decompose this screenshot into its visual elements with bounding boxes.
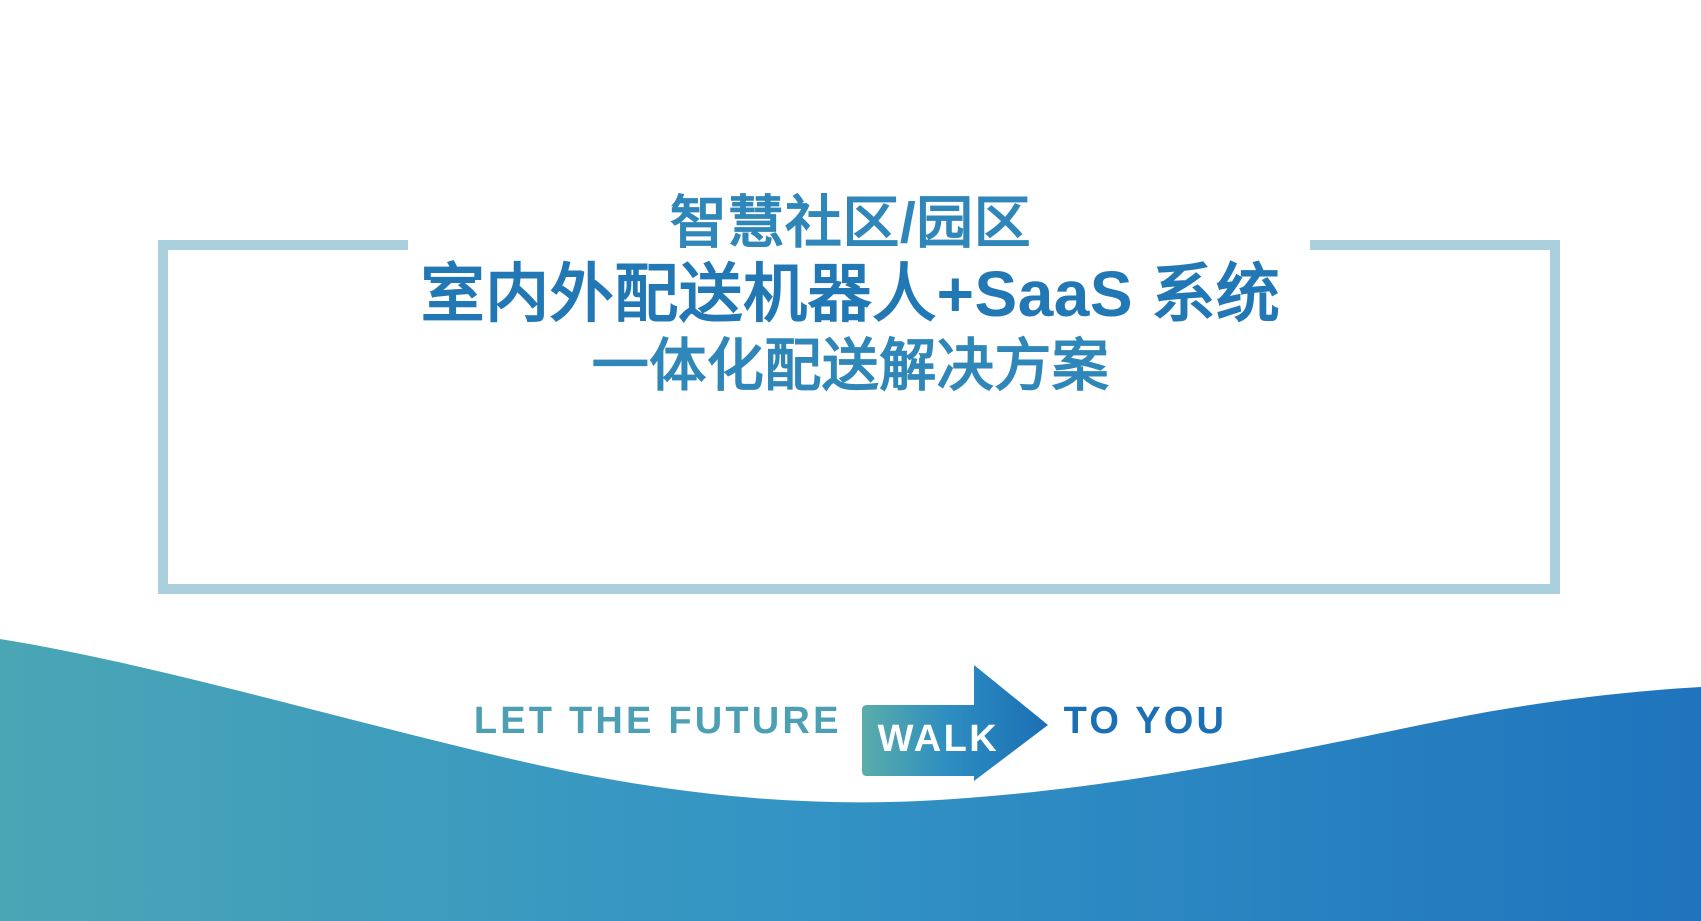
arrow-right-icon: WALK <box>856 663 1050 781</box>
title-line-3: 一体化配送解决方案 <box>0 333 1701 400</box>
tagline-highlight: WALK <box>878 720 999 758</box>
tagline-suffix: TO YOU <box>1050 702 1228 742</box>
tagline-prefix: LET THE FUTURE <box>474 702 856 742</box>
title-line-2: 室内外配送机器人+SaaS 系统 <box>0 257 1701 333</box>
tagline-inner: LET THE FUTURE WALK TO YOU <box>474 662 1227 782</box>
title-line-1: 智慧社区/园区 <box>0 190 1701 257</box>
tagline: LET THE FUTURE WALK TO YOU <box>0 662 1701 782</box>
title-slide: 智慧社区/园区 室内外配送机器人+SaaS 系统 一体化配送解决方案 LET T… <box>0 0 1701 921</box>
slide-title: 智慧社区/园区 室内外配送机器人+SaaS 系统 一体化配送解决方案 <box>0 190 1701 400</box>
frame-bottom-edge <box>158 584 1560 594</box>
